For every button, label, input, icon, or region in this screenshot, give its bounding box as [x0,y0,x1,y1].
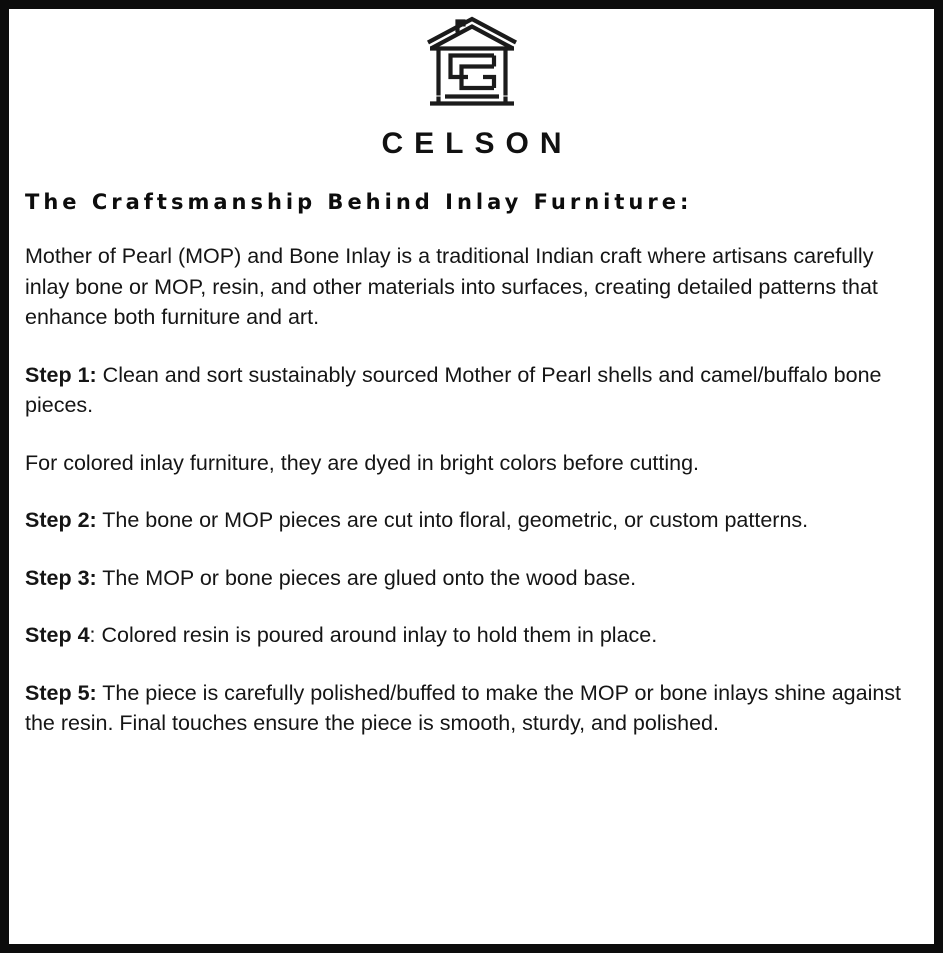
step-5-paragraph: Step 5: The piece is carefully polished/… [25,678,920,739]
document-body: Mother of Pearl (MOP) and Bone Inlay is … [25,241,920,739]
step-1-text: Clean and sort sustainably sourced Mothe… [25,363,882,418]
step-4-label: Step 4 [25,623,90,647]
colored-inlay-note: For colored inlay furniture, they are dy… [25,448,920,479]
step-2-text: The bone or MOP pieces are cut into flor… [97,508,808,532]
document-card: CELSON The Craftsmanship Behind Inlay Fu… [0,0,943,953]
step-3-label: Step 3: [25,566,97,590]
page-title: The Craftsmanship Behind Inlay Furniture… [25,191,926,214]
step-1-paragraph: Step 1: Clean and sort sustainably sourc… [25,360,920,421]
step-2-paragraph: Step 2: The bone or MOP pieces are cut i… [25,505,920,536]
step-4-text: : Colored resin is poured around inlay t… [90,623,658,647]
house-with-pillars-logo-icon [424,15,520,115]
document-inner: CELSON The Craftsmanship Behind Inlay Fu… [9,9,934,944]
step-5-label: Step 5: [25,681,97,705]
intro-paragraph: Mother of Pearl (MOP) and Bone Inlay is … [25,241,920,333]
step-4-paragraph: Step 4: Colored resin is poured around i… [25,620,920,651]
step-1-label: Step 1: [25,363,97,387]
brand-header: CELSON [17,9,926,159]
step-2-label: Step 2: [25,508,97,532]
step-3-paragraph: Step 3: The MOP or bone pieces are glued… [25,563,920,594]
brand-name: CELSON [17,129,926,159]
step-3-text: The MOP or bone pieces are glued onto th… [97,566,636,590]
step-5-text: The piece is carefully polished/buffed t… [25,681,901,736]
